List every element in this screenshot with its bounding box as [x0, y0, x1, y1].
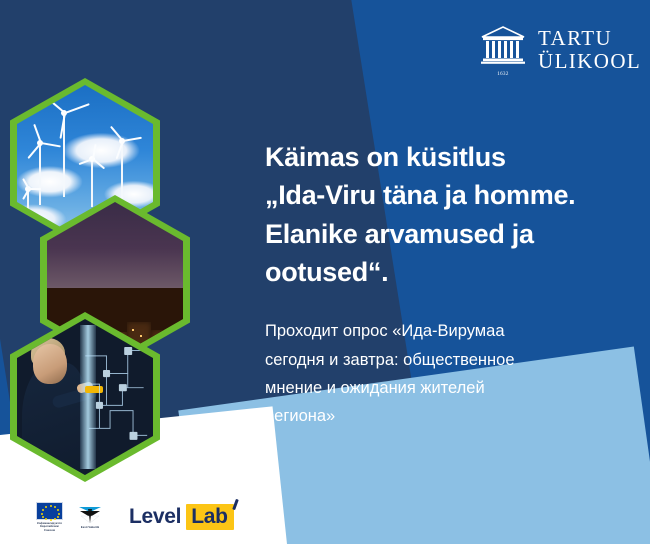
levellab-word-level: Level	[129, 505, 181, 529]
turbine-shape	[121, 141, 123, 199]
turbine-blade	[41, 142, 61, 147]
university-founded-year: 1632	[480, 72, 526, 77]
turbine-blade	[29, 188, 41, 190]
turbine-shape	[91, 159, 93, 207]
european-union-flag-icon	[36, 502, 63, 520]
woman-head	[33, 344, 67, 384]
subcopy: Проходит опрос «Ида-Вирумаа сегодня и за…	[265, 317, 635, 431]
turbine-shape	[63, 113, 65, 197]
text-content: Käimas on küsitlus „Ida-Viru täna ja hom…	[265, 138, 635, 431]
headline: Käimas on küsitlus „Ida-Viru täna ja hom…	[265, 138, 635, 291]
subcopy-line: сегодня и завтра: общественное	[265, 351, 515, 369]
turbine-blade	[92, 144, 97, 159]
poster-canvas: 1632 TARTU ÜLIKOOL Käimas on küsitlus „I…	[0, 0, 650, 544]
turbine-blade	[123, 137, 142, 142]
turbine-blade	[65, 103, 90, 114]
turbine-blade	[92, 158, 105, 169]
woman-digital-interface-photo-clip	[17, 319, 153, 475]
estonia-emblem-icon	[76, 505, 104, 524]
headline-line: „Ida-Viru täna ja homme.	[265, 176, 635, 214]
turbine-shape	[27, 189, 29, 223]
subcopy-line: Проходит опрос «Ида-Вирумаа	[265, 322, 505, 340]
woman-digital-interface-photo-image	[17, 319, 153, 475]
hexagon-image-stack	[2, 78, 202, 478]
european-union-logo: Кофинансируется Европейским Союзом	[36, 502, 63, 532]
digital-network-graphic	[80, 331, 151, 462]
turbine-blade	[27, 142, 41, 159]
headline-line: ootused“.	[265, 253, 635, 291]
estonia-emblem-icon-svg	[76, 505, 104, 524]
estonia-logo: Eesti Vabariik	[76, 505, 104, 529]
subcopy-line: региона»	[265, 407, 335, 425]
university-logo: 1632 TARTU ÜLIKOOL	[480, 24, 641, 76]
estonia-logo-caption: Eesti Vabariik	[76, 526, 104, 530]
headline-line: Elanike arvamused ja	[265, 215, 635, 253]
university-building-icon-svg	[480, 24, 526, 70]
turbine-blade	[110, 126, 124, 142]
university-building-icon: 1632	[480, 24, 526, 76]
european-union-logo-caption: Кофинансируется Европейским Союзом	[36, 522, 63, 533]
levellab-word-lab: Lab	[191, 505, 227, 528]
headline-line: Käimas on küsitlus	[265, 138, 635, 176]
subcopy-line: мнение и ожидания жителей	[265, 379, 485, 397]
university-wordmark: TARTU ÜLIKOOL	[538, 27, 641, 72]
footer-logo-row: Кофинансируется Европейским Союзом Eesti…	[36, 502, 234, 532]
university-name-line2: ÜLIKOOL	[538, 50, 641, 73]
turbine-shape	[39, 143, 41, 205]
levellab-logo: Level Lab	[129, 504, 234, 530]
turbine-blade	[44, 96, 65, 114]
university-name-line1: TARTU	[538, 27, 641, 50]
turbine-blade	[116, 141, 124, 160]
levellab-lab-badge: Lab	[186, 504, 233, 530]
turbine-blade	[60, 113, 66, 139]
turbine-blade	[22, 189, 30, 200]
